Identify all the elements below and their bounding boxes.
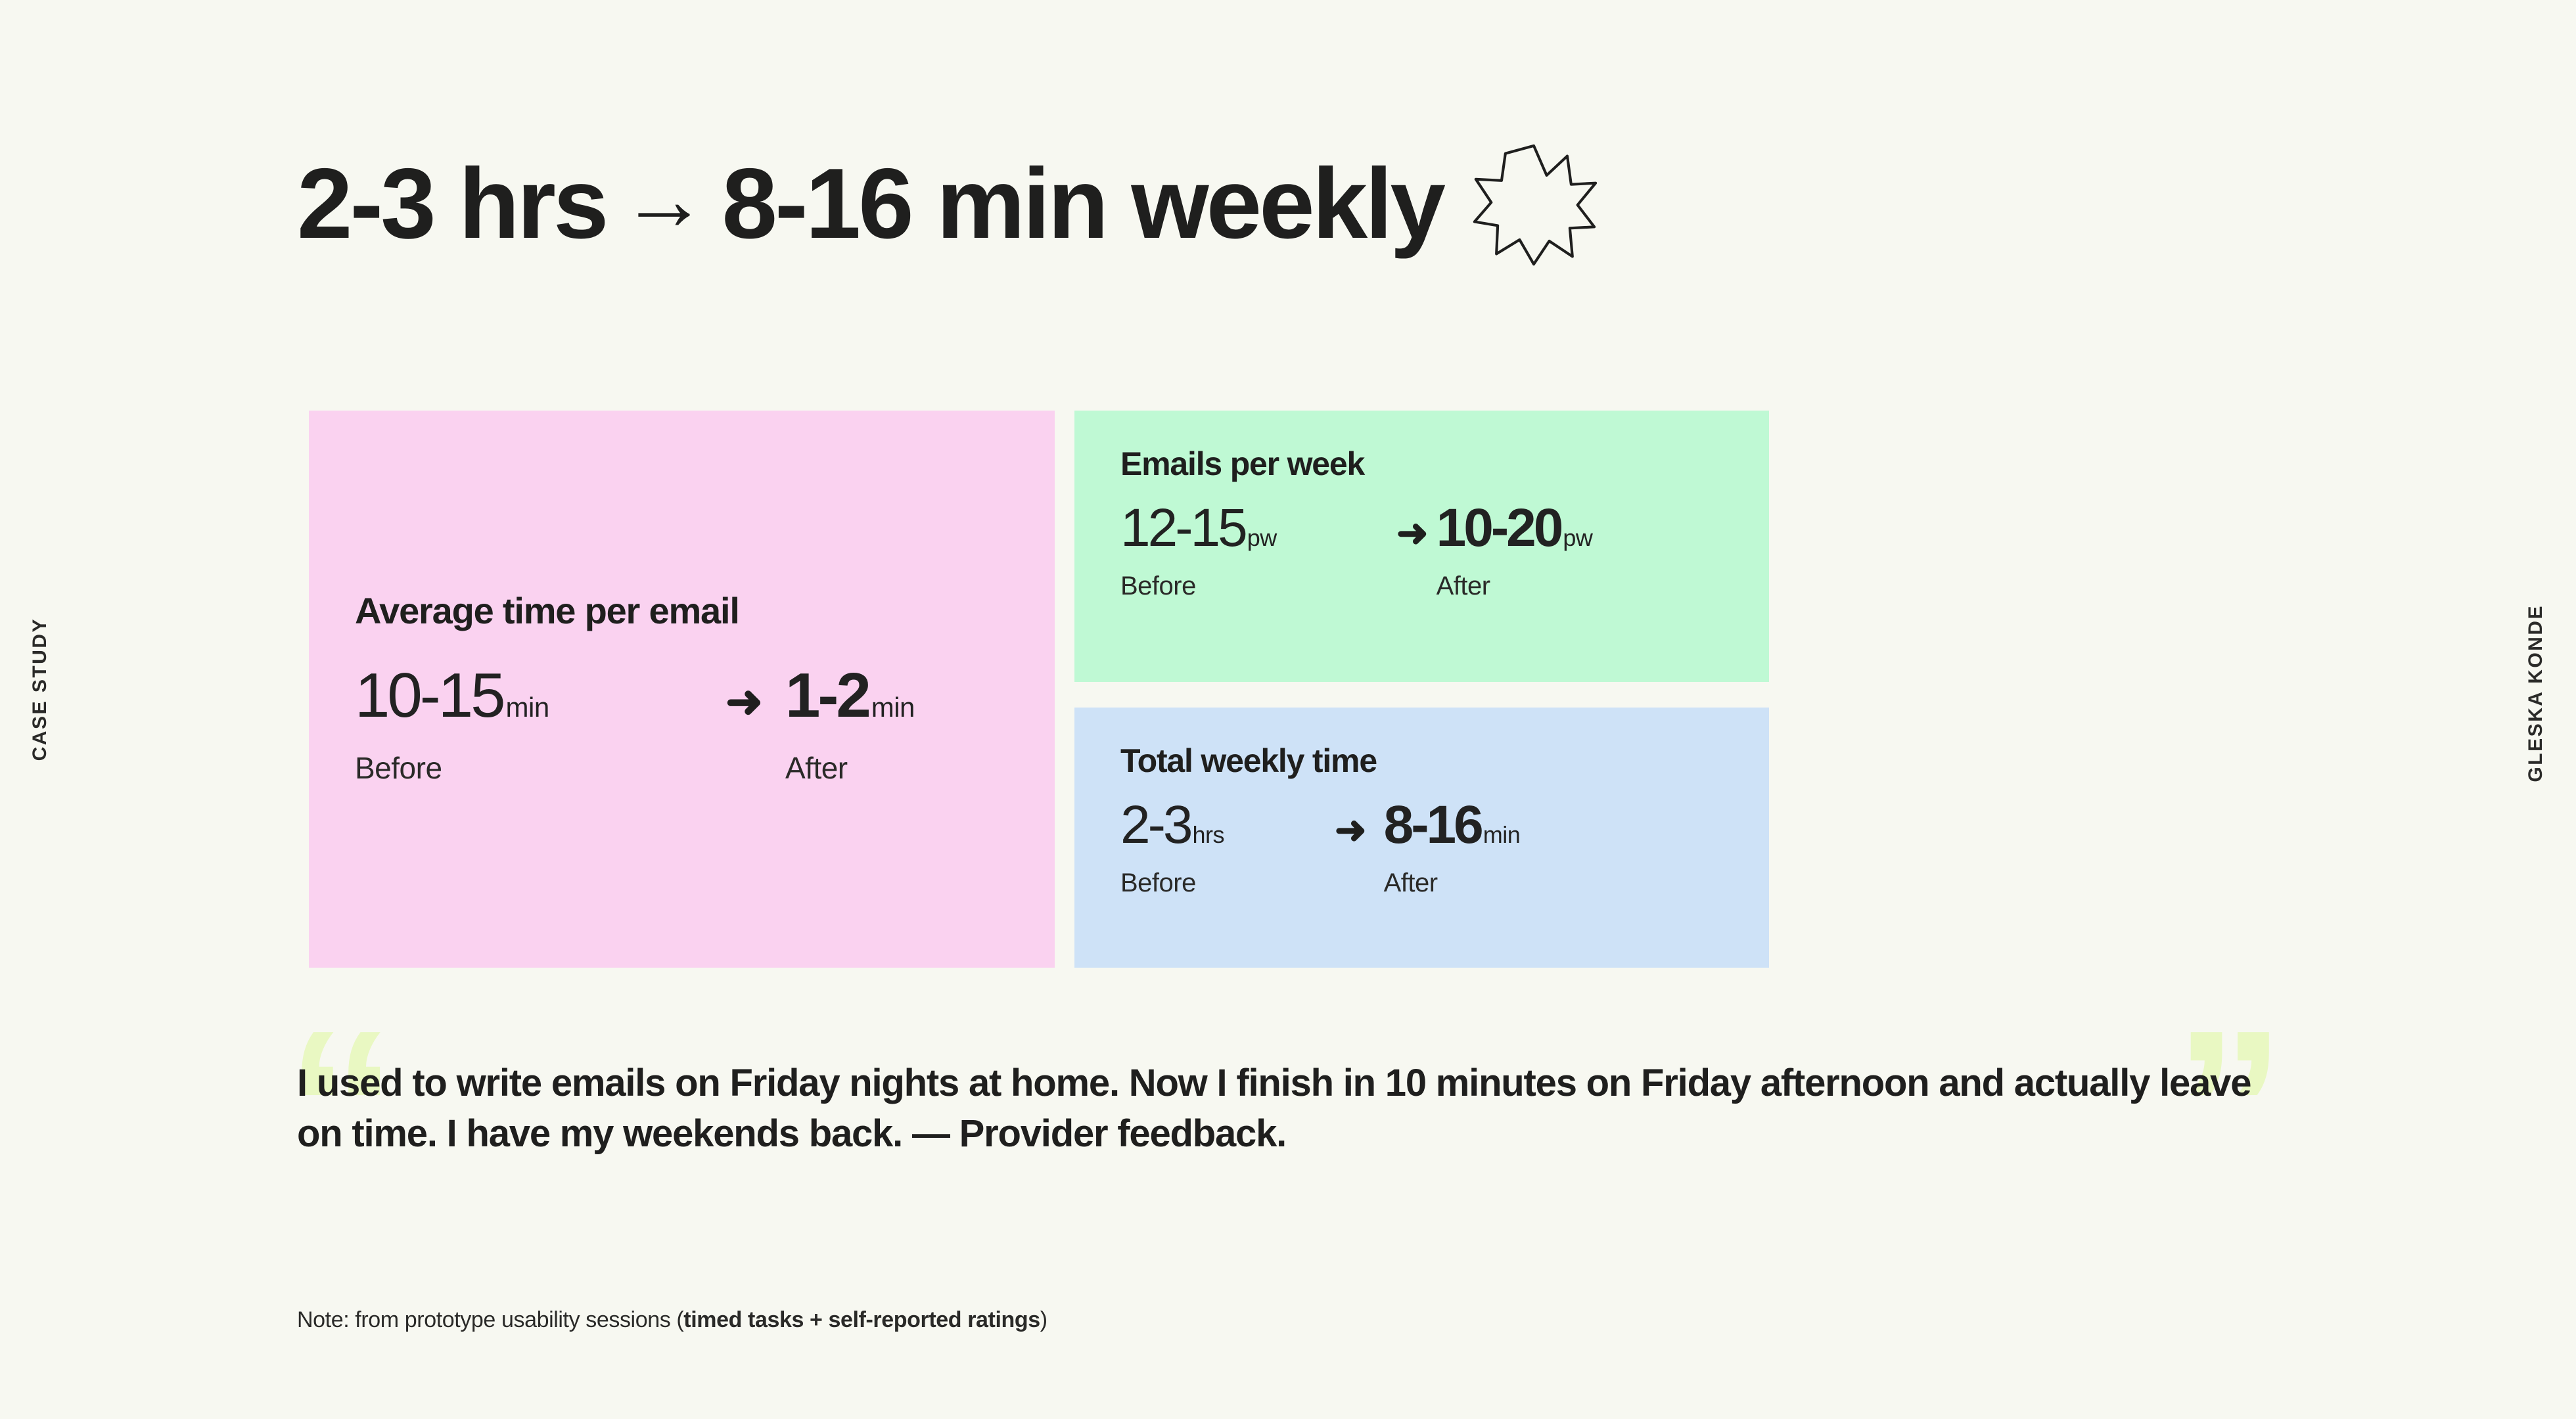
after-unit: min — [871, 692, 915, 723]
card-title: Total weekly time — [1120, 742, 1723, 780]
footnote-emphasis: timed tasks + self-reported ratings — [683, 1307, 1040, 1332]
before-after-row: 2-3hrs ➜ 8-16min — [1120, 794, 1723, 856]
card-title: Average time per email — [355, 589, 1009, 632]
after-column: 10-20pw — [1437, 497, 1593, 559]
before-after-row: 12-15pw ➜ 10-20pw — [1120, 497, 1723, 559]
before-after-label-row: Before ➜ After — [1120, 559, 1723, 604]
after-label: After — [1384, 868, 1438, 898]
after-number: 8-16 — [1384, 794, 1481, 856]
before-after-label-row: Before ➜ After — [1120, 856, 1723, 901]
rail-label-case-study: CASE STUDY — [29, 618, 51, 761]
before-value: 10-15min — [355, 660, 703, 732]
quote-text: I used to write emails on Friday nights … — [297, 1058, 2275, 1159]
after-value: 1-2min — [785, 660, 915, 732]
after-column: 8-16min — [1384, 794, 1521, 856]
after-number: 1-2 — [785, 660, 869, 732]
slide-canvas: CASE STUDY GLESKA KONDE 2-3 hrs → 8-16 m… — [0, 0, 2576, 1419]
after-column: 1-2min — [785, 660, 915, 732]
before-column: 2-3hrs — [1120, 794, 1318, 856]
before-unit: pw — [1247, 524, 1277, 552]
arrow-right-icon: → — [620, 156, 704, 243]
footnote: Note: from prototype usability sessions … — [297, 1307, 1047, 1333]
after-label-column: After — [1437, 560, 1490, 601]
arrow-right-icon: ➜ — [725, 676, 763, 728]
rail-label-brand: GLESKA KONDE — [2525, 604, 2547, 782]
before-label-column: Before — [1120, 857, 1318, 898]
before-label-column: Before — [355, 732, 703, 786]
stat-card-average-time-per-email: Average time per email 10-15min ➜ 1-2min… — [309, 411, 1055, 968]
before-after-row: 10-15min ➜ 1-2min — [355, 660, 1009, 732]
before-value: 2-3hrs — [1120, 794, 1318, 856]
after-label-column: After — [785, 732, 848, 786]
after-value: 8-16min — [1384, 794, 1521, 856]
before-unit: min — [506, 692, 549, 723]
footnote-prefix: Note: from prototype usability sessions … — [297, 1307, 683, 1332]
before-number: 2-3 — [1120, 794, 1191, 856]
before-unit: hrs — [1193, 821, 1225, 849]
after-label: After — [785, 750, 848, 786]
stat-card-total-weekly-time: Total weekly time 2-3hrs ➜ 8-16min Befor… — [1074, 708, 1769, 968]
after-label: After — [1437, 572, 1490, 601]
stat-card-emails-per-week: Emails per week 12-15pw ➜ 10-20pw Before… — [1074, 411, 1769, 682]
before-after-label-row: Before ➜ After — [355, 732, 1009, 790]
after-unit: pw — [1563, 524, 1592, 552]
footnote-suffix: ) — [1040, 1307, 1047, 1332]
before-number: 10-15 — [355, 660, 503, 732]
arrow-right-icon: ➜ — [1335, 807, 1367, 852]
after-number: 10-20 — [1437, 497, 1561, 559]
headline-before: 2-3 hrs — [297, 154, 606, 254]
headline-after: 8-16 min weekly — [722, 154, 1443, 254]
starburst-icon — [1469, 141, 1598, 269]
after-value: 10-20pw — [1437, 497, 1593, 559]
before-label: Before — [1120, 868, 1318, 898]
before-value: 12-15pw — [1120, 497, 1389, 559]
card-title: Emails per week — [1120, 445, 1723, 483]
after-unit: min — [1483, 821, 1521, 849]
arrow-right-icon: ➜ — [1396, 510, 1429, 555]
page-title: 2-3 hrs → 8-16 min weekly — [297, 139, 1598, 268]
before-column: 12-15pw — [1120, 497, 1389, 559]
before-label: Before — [355, 750, 703, 786]
testimonial-quote: “ ” I used to write emails on Friday nig… — [297, 1058, 2275, 1159]
before-label-column: Before — [1120, 560, 1389, 601]
before-label: Before — [1120, 572, 1389, 601]
after-label-column: After — [1384, 857, 1438, 898]
before-number: 12-15 — [1120, 497, 1245, 559]
before-column: 10-15min — [355, 660, 703, 732]
